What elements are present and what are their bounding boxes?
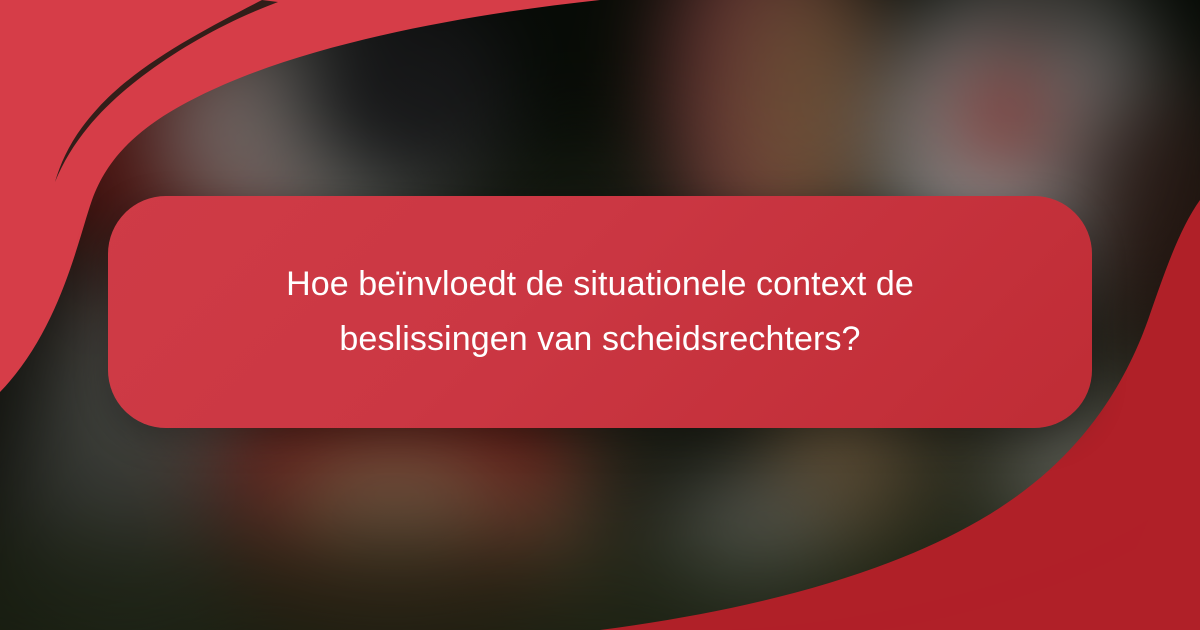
page-title: Hoe beïnvloedt de situationele context d… — [230, 257, 970, 367]
headline-card: Hoe beïnvloedt de situationele context d… — [108, 196, 1092, 428]
share-card-canvas: Hoe beïnvloedt de situationele context d… — [0, 0, 1200, 630]
